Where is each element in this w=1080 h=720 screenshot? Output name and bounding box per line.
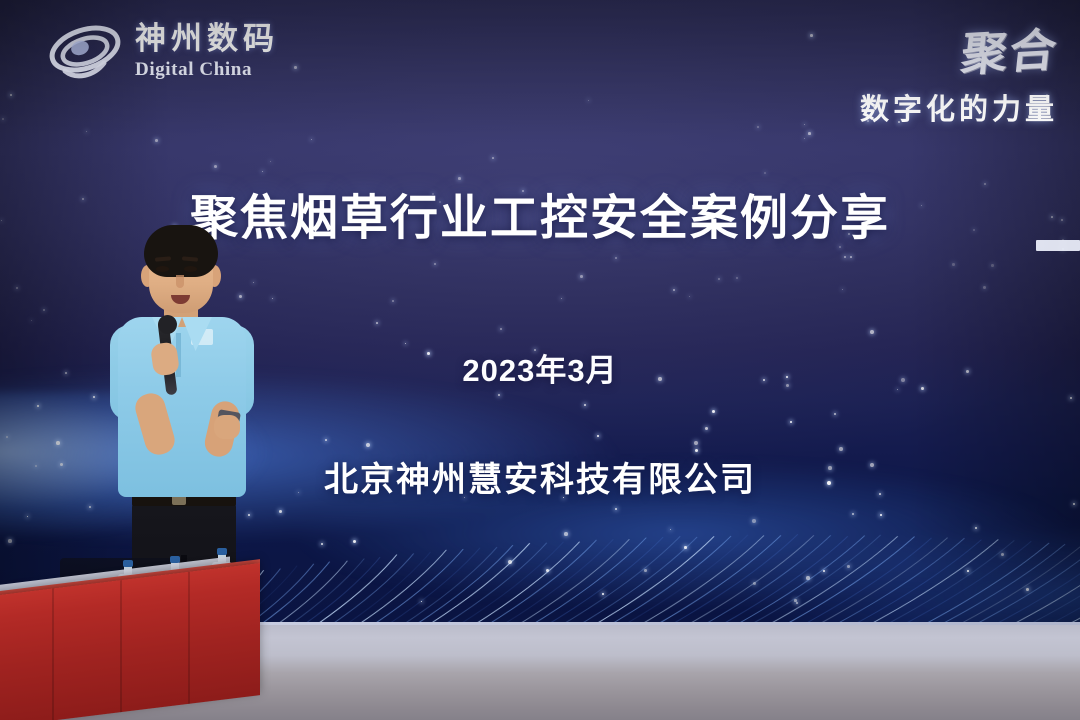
presenter-eye-left (156, 266, 169, 272)
digital-china-swirl-icon (46, 18, 124, 84)
screen-edge-highlight (1036, 240, 1080, 251)
event-logo-calligraphy: 聚合 (958, 14, 1062, 85)
presenter-eye-right (184, 266, 197, 272)
event-logo: 聚合 数字化的力量 (860, 16, 1058, 128)
digital-china-wordmark: 神州数码 Digital China (135, 23, 279, 79)
event-logo-tagline: 数字化的力量 (860, 86, 1058, 128)
logo-name-en: Digital China (135, 60, 279, 79)
presenter-nose (176, 275, 184, 288)
logo-name-cn: 神州数码 (135, 23, 279, 54)
stage-photo-scene: 神州数码 Digital China 聚合 数字化的力量 聚焦烟草行业工控安全案… (0, 0, 1080, 720)
digital-china-logo: 神州数码 Digital China (46, 18, 279, 84)
presenter-hand-right (214, 415, 240, 439)
